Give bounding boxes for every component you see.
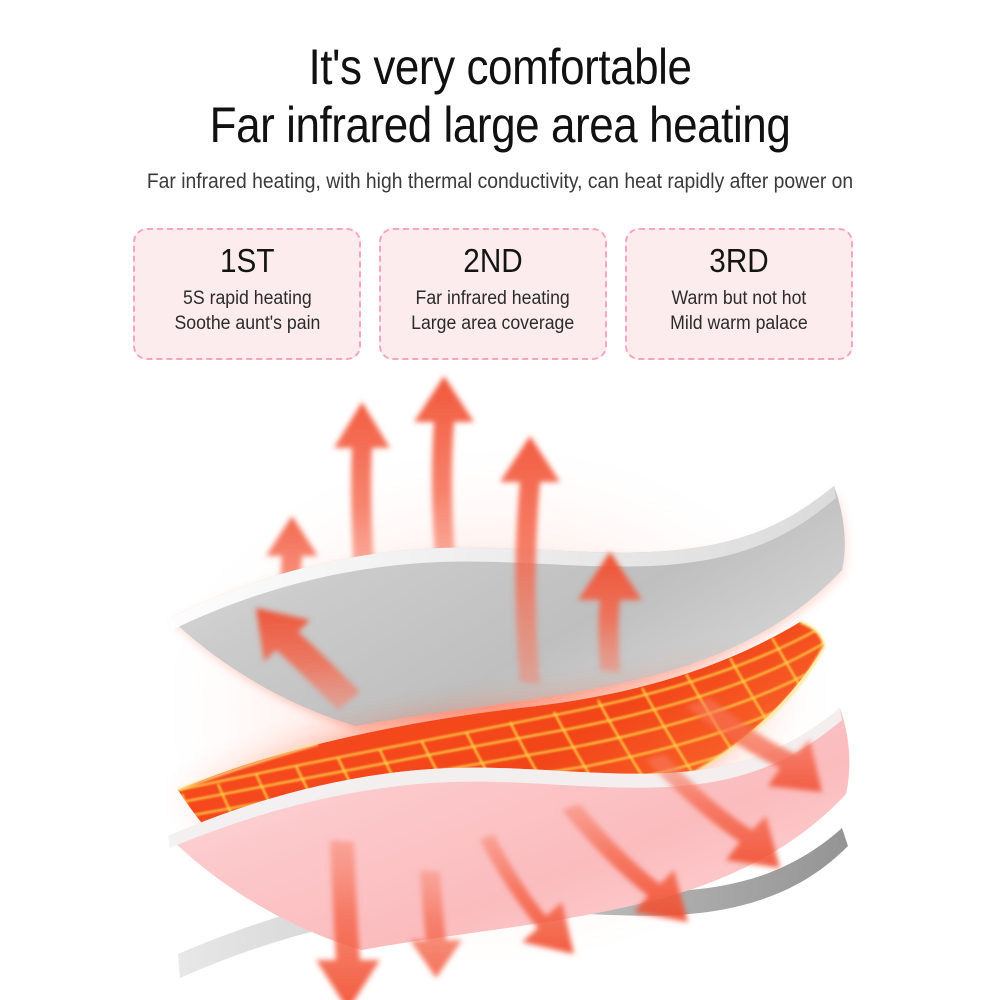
feature-line-2: Soothe aunt's pain — [174, 311, 320, 336]
feature-line-2: Mild warm palace — [670, 311, 807, 336]
feature-text-group: Far infrared heating Large area coverage — [405, 286, 580, 336]
page-title-line-1: It's very comfortable — [60, 38, 940, 96]
feature-line-1: Far infrared heating — [411, 286, 574, 311]
page-title-line-2: Far infrared large area heating — [60, 96, 940, 154]
heating-pad-layers-illustration — [100, 370, 900, 1000]
feature-box-list: 1ST 5S rapid heating Soothe aunt's pain … — [133, 228, 853, 360]
feature-box-3rd: 3RD Warm but not hot Mild warm palace — [625, 228, 853, 360]
page-header: It's very comfortable Far infrared large… — [0, 0, 1000, 196]
feature-rank-label: 2ND — [463, 240, 522, 282]
feature-box-1st: 1ST 5S rapid heating Soothe aunt's pain — [133, 228, 361, 360]
feature-box-2nd: 2ND Far infrared heating Large area cove… — [379, 228, 607, 360]
feature-text-group: 5S rapid heating Soothe aunt's pain — [169, 286, 326, 336]
feature-line-1: 5S rapid heating — [174, 286, 320, 311]
feature-line-2: Large area coverage — [411, 311, 574, 336]
feature-line-1: Warm but not hot — [670, 286, 807, 311]
feature-rank-label: 3RD — [709, 240, 768, 282]
feature-rank-label: 1ST — [220, 240, 274, 282]
feature-text-group: Warm but not hot Mild warm palace — [665, 286, 813, 336]
page-subtitle: Far infrared heating, with high thermal … — [40, 168, 960, 196]
